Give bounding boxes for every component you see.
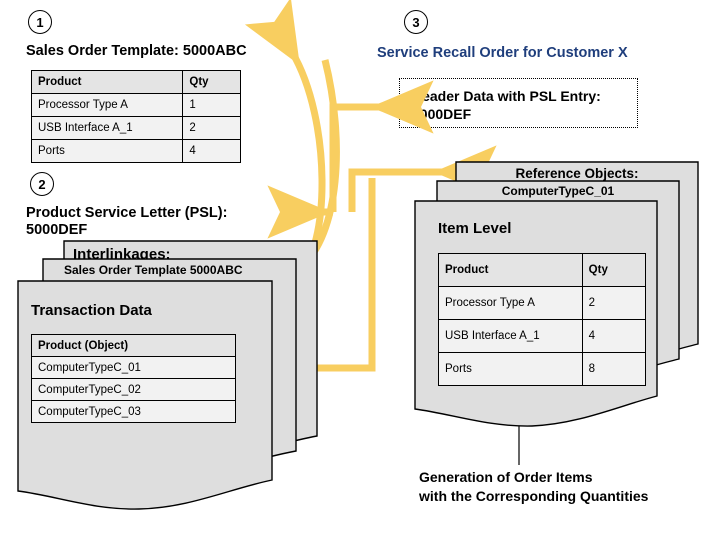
generation-caption-line2: with the Corresponding Quantities — [419, 487, 648, 506]
table-row: Ports 8 — [439, 353, 646, 386]
table-row: Processor Type A 1 — [32, 94, 241, 117]
header-data-box: Header Data with PSL Entry: 5000DEF — [399, 78, 638, 128]
generation-caption-line1: Generation of Order Items — [419, 468, 648, 487]
cell-product: USB Interface A_1 — [32, 117, 183, 140]
reference-object-item-1: ComputerTypeC_01 — [436, 184, 680, 199]
table-row: ComputerTypeC_03 — [32, 401, 236, 423]
arrow-sales-order-template-to-psl — [300, 60, 336, 268]
sales-order-template-table: Product Qty Processor Type A 1 USB Inter… — [31, 70, 241, 163]
item-level-table: Product Qty Processor Type A 2 USB Inter… — [438, 253, 646, 386]
card-content: Transaction Data Product (Object) Comput… — [17, 280, 236, 423]
table-header-row: Product (Object) — [32, 335, 236, 357]
table-row: Ports 4 — [32, 140, 241, 163]
section1-title: Sales Order Template: 5000ABC — [26, 43, 247, 60]
card-content: Reference Objects: — [455, 161, 699, 182]
column-header-product: Product — [32, 71, 183, 94]
step-badge-1-label: 1 — [36, 16, 43, 29]
table-header-row: Product Qty — [32, 71, 241, 94]
transaction-data-table: Product (Object) ComputerTypeC_01 Comput… — [31, 334, 236, 423]
section3-title: Service Recall Order for Customer X — [377, 45, 628, 62]
sales-order-ref-label: Sales Order Template 5000ABC — [64, 263, 243, 278]
cell-qty: 2 — [183, 117, 241, 140]
cell-product-object: ComputerTypeC_01 — [32, 357, 236, 379]
transaction-data-title: Transaction Data — [31, 302, 236, 320]
step-badge-1: 1 — [28, 10, 52, 34]
recall-card-item-level: Item Level Product Qty Processor Type A … — [414, 200, 658, 430]
table-row: USB Interface A_1 4 — [439, 320, 646, 353]
table-row: ComputerTypeC_02 — [32, 379, 236, 401]
cell-product: Ports — [439, 353, 583, 386]
psl-card-transaction-data: Transaction Data Product (Object) Comput… — [17, 280, 273, 512]
column-header-product-object: Product (Object) — [32, 335, 236, 357]
cell-qty: 2 — [582, 287, 645, 320]
step-badge-2-label: 2 — [38, 178, 45, 191]
cell-product: Ports — [32, 140, 183, 163]
table-row: USB Interface A_1 2 — [32, 117, 241, 140]
cell-qty: 4 — [183, 140, 241, 163]
table-row: ComputerTypeC_01 — [32, 357, 236, 379]
step-badge-2: 2 — [30, 172, 54, 196]
step-badge-3-label: 3 — [412, 16, 419, 29]
cell-qty: 1 — [183, 94, 241, 117]
column-header-product: Product — [439, 254, 583, 287]
card-content: Item Level Product Qty Processor Type A … — [414, 200, 646, 386]
card-content: Sales Order Template 5000ABC — [42, 258, 243, 278]
item-level-title: Item Level — [438, 220, 646, 238]
section2-title-line2: 5000DEF — [26, 222, 87, 239]
header-data-line2: 5000DEF — [412, 105, 627, 123]
step-badge-3: 3 — [404, 10, 428, 34]
section2-title-line1: Product Service Letter (PSL): — [26, 205, 227, 222]
column-header-qty: Qty — [183, 71, 241, 94]
cell-product: USB Interface A_1 — [439, 320, 583, 353]
arrow-psl-to-header-data — [333, 107, 386, 212]
table-header-row: Product Qty — [439, 254, 646, 287]
cell-product-object: ComputerTypeC_02 — [32, 379, 236, 401]
generation-caption: Generation of Order Items with the Corre… — [419, 468, 648, 506]
column-header-qty: Qty — [582, 254, 645, 287]
cell-qty: 4 — [582, 320, 645, 353]
cell-product: Processor Type A — [439, 287, 583, 320]
cell-qty: 8 — [582, 353, 645, 386]
table-row: Processor Type A 2 — [439, 287, 646, 320]
cell-product: Processor Type A — [32, 94, 183, 117]
cell-product-object: ComputerTypeC_03 — [32, 401, 236, 423]
header-data-line1: Header Data with PSL Entry: — [412, 87, 627, 105]
